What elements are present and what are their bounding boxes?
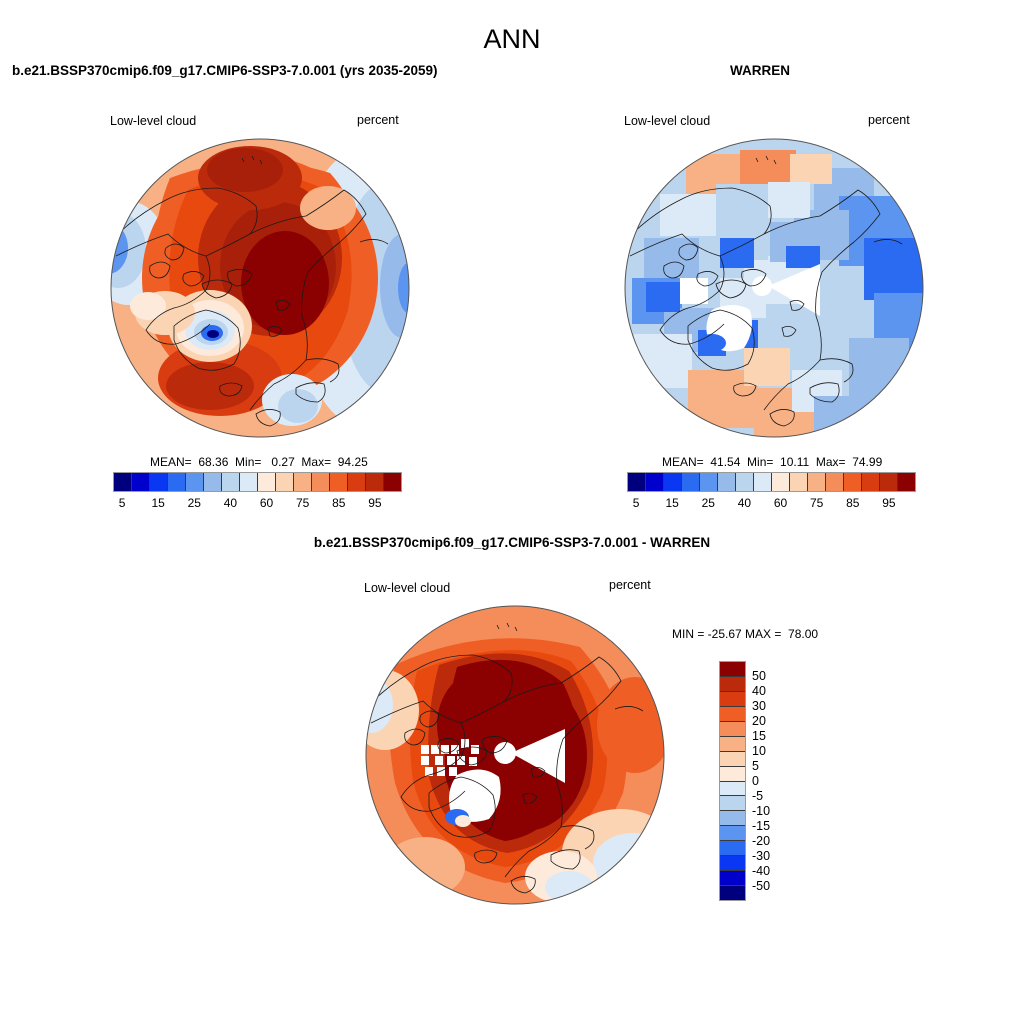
colorbar-tick-label: 40 bbox=[224, 496, 237, 510]
colorbar-swatch bbox=[186, 473, 204, 491]
colorbar-swatch bbox=[720, 811, 745, 826]
colorbar-swatch bbox=[312, 473, 330, 491]
colorbar-tick-label: 40 bbox=[752, 684, 766, 698]
model-variable-label: Low-level cloud bbox=[110, 114, 196, 128]
colorbar-swatch bbox=[664, 473, 682, 491]
colorbar-swatch bbox=[754, 473, 772, 491]
colorbar-swatch bbox=[114, 473, 132, 491]
model-filled-contours bbox=[110, 138, 410, 438]
colorbar-tick-label: 5 bbox=[752, 759, 759, 773]
colorbar-tick-label: -20 bbox=[752, 834, 770, 848]
colorbar-swatch bbox=[720, 767, 745, 782]
colorbar-swatch bbox=[720, 856, 745, 871]
colorbar-tick-label: 10 bbox=[752, 744, 766, 758]
colorbar-swatch bbox=[808, 473, 826, 491]
colorbar-swatch bbox=[826, 473, 844, 491]
colorbar-tick-label: 60 bbox=[260, 496, 273, 510]
obs-polar-map bbox=[624, 138, 924, 438]
colorbar-swatch bbox=[720, 886, 745, 900]
colorbar-tick-label: -50 bbox=[752, 879, 770, 893]
obs-colorbar: 515254060758595 bbox=[627, 472, 916, 514]
obs-stats: MEAN= 41.54 Min= 10.11 Max= 74.99 bbox=[662, 455, 882, 469]
colorbar-swatch bbox=[720, 692, 745, 707]
colorbar-swatch bbox=[204, 473, 222, 491]
colorbar-tick-label: 15 bbox=[665, 496, 678, 510]
colorbar-swatch bbox=[880, 473, 898, 491]
colorbar-tick-label: 85 bbox=[846, 496, 859, 510]
model-map-svg bbox=[110, 138, 410, 438]
obs-map-svg bbox=[624, 138, 924, 438]
colorbar-swatch bbox=[720, 722, 745, 737]
colorbar-swatch bbox=[720, 826, 745, 841]
obs-variable-label: Low-level cloud bbox=[624, 114, 710, 128]
colorbar-tick-label: -15 bbox=[752, 819, 770, 833]
colorbar-swatch bbox=[790, 473, 808, 491]
colorbar-swatch bbox=[330, 473, 348, 491]
colorbar-swatch bbox=[720, 871, 745, 886]
obs-units-label: percent bbox=[868, 113, 910, 127]
colorbar-swatch bbox=[628, 473, 646, 491]
colorbar-swatch bbox=[132, 473, 150, 491]
colorbar-swatch bbox=[736, 473, 754, 491]
colorbar-swatch bbox=[294, 473, 312, 491]
colorbar-tick-label: 75 bbox=[296, 496, 309, 510]
colorbar-tick-label: 15 bbox=[752, 729, 766, 743]
obs-filled-contours bbox=[624, 138, 924, 438]
model-colorbar: 515254060758595 bbox=[113, 472, 402, 514]
colorbar-swatch bbox=[384, 473, 401, 491]
diff-filled-contours bbox=[365, 605, 665, 905]
colorbar-tick-label: 95 bbox=[368, 496, 381, 510]
diff-polar-map bbox=[365, 605, 665, 905]
colorbar-tick-label: -30 bbox=[752, 849, 770, 863]
colorbar-swatch bbox=[772, 473, 790, 491]
colorbar-swatch bbox=[276, 473, 294, 491]
diff-colorbar: 50403020151050-5-10-15-20-30-40-50 bbox=[719, 661, 849, 903]
colorbar-swatch bbox=[168, 473, 186, 491]
page-title: ANN bbox=[0, 24, 1024, 55]
colorbar-swatch bbox=[720, 662, 745, 677]
colorbar-tick-label: 60 bbox=[774, 496, 787, 510]
colorbar-swatch bbox=[646, 473, 664, 491]
diff-units-label: percent bbox=[609, 578, 651, 592]
colorbar-swatch bbox=[682, 473, 700, 491]
colorbar-swatch bbox=[720, 677, 745, 692]
colorbar-swatch bbox=[718, 473, 736, 491]
colorbar-tick-label: -5 bbox=[752, 789, 763, 803]
diff-stats: MIN = -25.67 MAX = 78.00 bbox=[672, 627, 818, 641]
colorbar-swatch bbox=[898, 473, 915, 491]
colorbar-tick-label: 30 bbox=[752, 699, 766, 713]
colorbar-swatch bbox=[720, 737, 745, 752]
colorbar-swatch bbox=[240, 473, 258, 491]
colorbar-tick-label: 25 bbox=[188, 496, 201, 510]
diff-panel-title: b.e21.BSSP370cmip6.f09_g17.CMIP6-SSP3-7.… bbox=[0, 535, 1024, 550]
colorbar-tick-label: 20 bbox=[752, 714, 766, 728]
diff-map-svg bbox=[365, 605, 665, 905]
colorbar-swatch bbox=[720, 707, 745, 722]
colorbar-swatch bbox=[150, 473, 168, 491]
colorbar-swatch bbox=[844, 473, 862, 491]
colorbar-tick-label: 50 bbox=[752, 669, 766, 683]
colorbar-tick-label: 15 bbox=[151, 496, 164, 510]
obs-panel-title: WARREN bbox=[730, 63, 790, 78]
colorbar-tick-label: 25 bbox=[702, 496, 715, 510]
colorbar-swatch bbox=[348, 473, 366, 491]
colorbar-swatch bbox=[720, 752, 745, 767]
colorbar-swatch bbox=[258, 473, 276, 491]
colorbar-swatch bbox=[862, 473, 880, 491]
model-stats: MEAN= 68.36 Min= 0.27 Max= 94.25 bbox=[150, 455, 368, 469]
colorbar-tick-label: 85 bbox=[332, 496, 345, 510]
colorbar-swatch bbox=[366, 473, 384, 491]
model-units-label: percent bbox=[357, 113, 399, 127]
colorbar-swatch bbox=[720, 841, 745, 856]
colorbar-tick-label: 5 bbox=[633, 496, 640, 510]
colorbar-tick-label: 95 bbox=[882, 496, 895, 510]
colorbar-tick-label: 75 bbox=[810, 496, 823, 510]
colorbar-swatch bbox=[720, 782, 745, 797]
colorbar-swatch bbox=[700, 473, 718, 491]
diff-variable-label: Low-level cloud bbox=[364, 581, 450, 595]
colorbar-swatch bbox=[222, 473, 240, 491]
model-polar-map bbox=[110, 138, 410, 438]
colorbar-tick-label: 5 bbox=[119, 496, 126, 510]
model-panel-title: b.e21.BSSP370cmip6.f09_g17.CMIP6-SSP3-7.… bbox=[12, 63, 438, 78]
colorbar-tick-label: 40 bbox=[738, 496, 751, 510]
colorbar-swatch bbox=[720, 796, 745, 811]
colorbar-tick-label: -40 bbox=[752, 864, 770, 878]
colorbar-tick-label: 0 bbox=[752, 774, 759, 788]
colorbar-tick-label: -10 bbox=[752, 804, 770, 818]
